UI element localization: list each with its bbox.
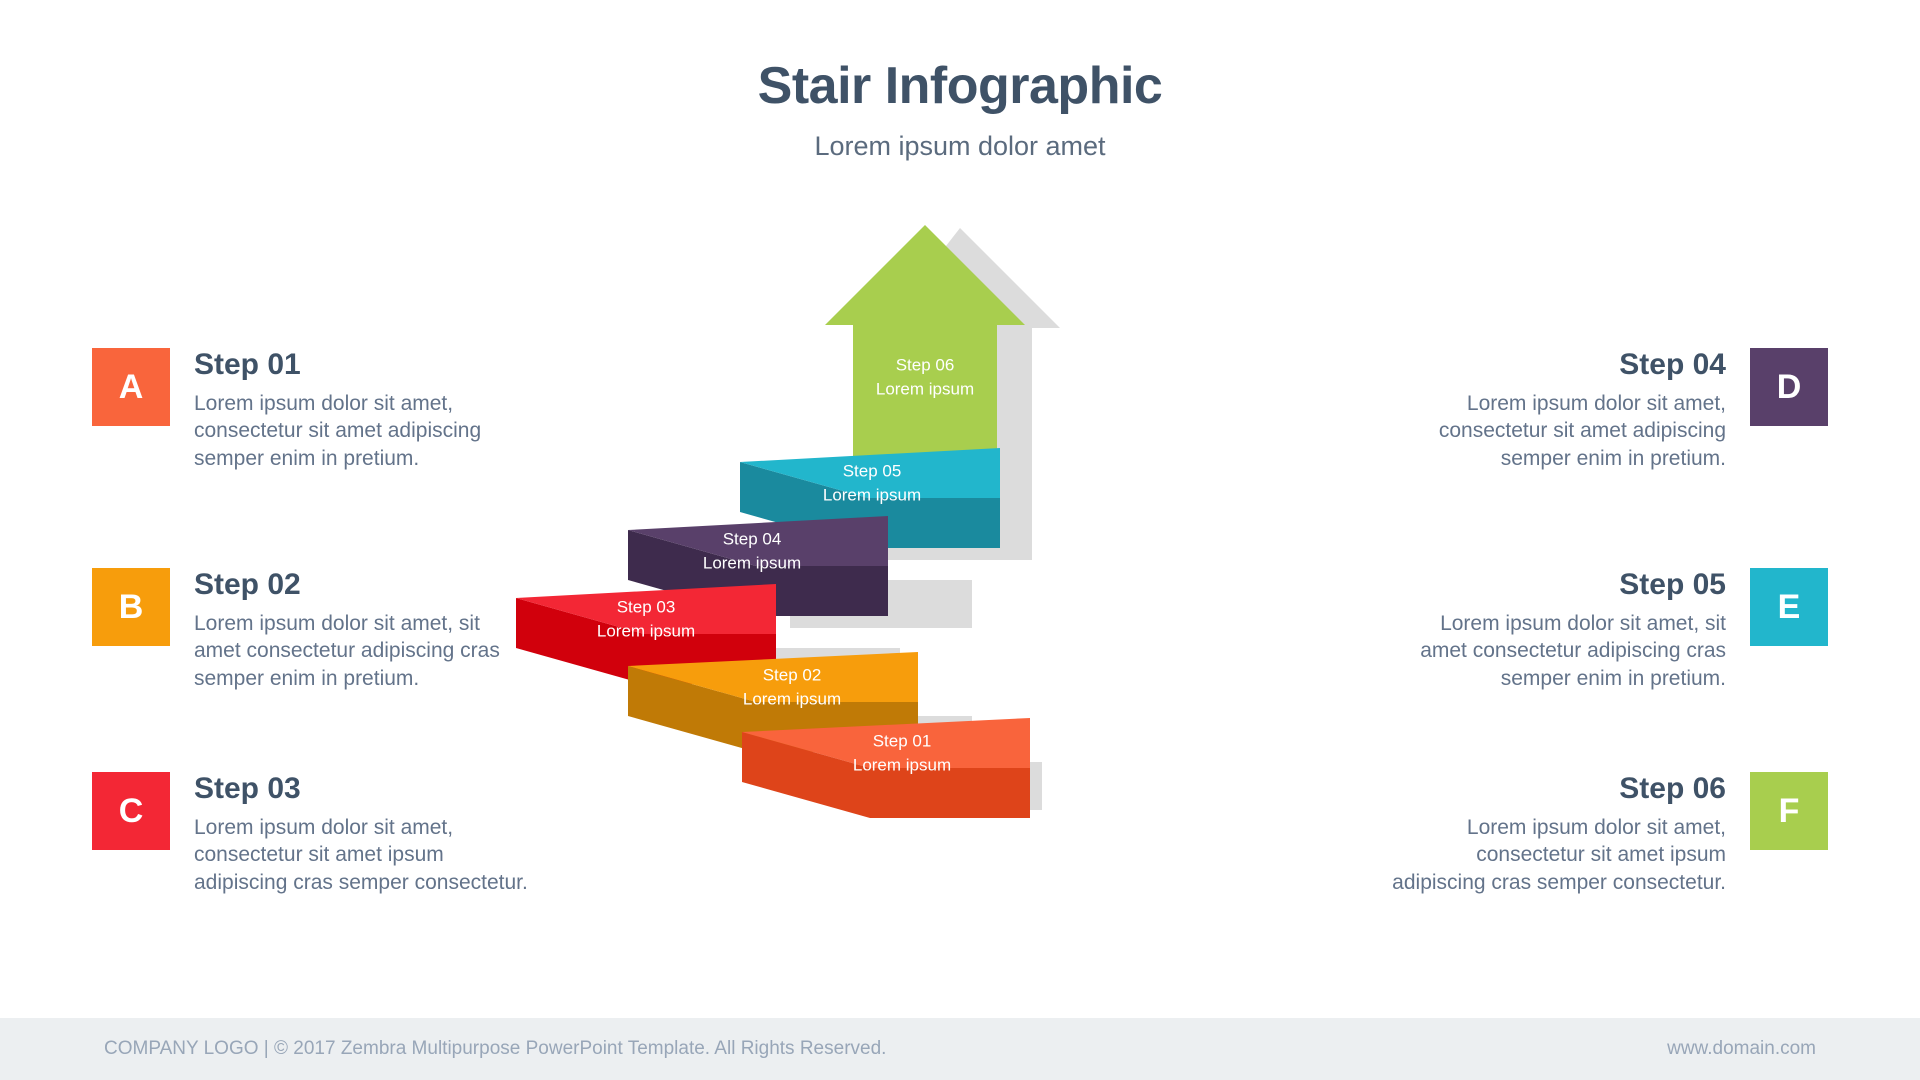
- step-desc-line: consectetur sit amet ipsum: [1326, 841, 1726, 869]
- step-06-label: Step 06: [896, 355, 955, 374]
- step-desc-line: Lorem ipsum dolor sit amet,: [194, 814, 594, 842]
- step-desc-06: Lorem ipsum dolor sit amet, consectetur …: [1326, 814, 1726, 898]
- step-desc-line: consectetur sit amet adipiscing: [1326, 417, 1726, 445]
- step-05-label: Step 05: [843, 461, 902, 480]
- step-02-sublabel: Lorem ipsum: [743, 689, 841, 708]
- step-block-05[interactable]: E Step 05 Lorem ipsum dolor sit amet, si…: [1326, 568, 1828, 693]
- step-title-05: Step 05: [1326, 568, 1726, 603]
- step-03-label: Step 03: [617, 597, 676, 616]
- step-desc-line: amet consectetur adipiscing cras: [1326, 637, 1726, 665]
- step-01-front: [870, 768, 1030, 818]
- step-05-sublabel: Lorem ipsum: [823, 485, 921, 504]
- step-block-04[interactable]: D Step 04 Lorem ipsum dolor sit amet, co…: [1326, 348, 1828, 473]
- stair-step-01[interactable]: Step 01 Lorem ipsum: [742, 718, 1030, 818]
- step-title-06: Step 06: [1326, 772, 1726, 807]
- badge-d[interactable]: D: [1750, 348, 1828, 426]
- step-title-03: Step 03: [194, 772, 594, 807]
- step-desc-04: Lorem ipsum dolor sit amet, consectetur …: [1326, 390, 1726, 474]
- step-block-06[interactable]: F Step 06 Lorem ipsum dolor sit amet, co…: [1326, 772, 1828, 897]
- step-desc-line: semper enim in pretium.: [194, 445, 594, 473]
- page-subtitle: Lorem ipsum dolor amet: [0, 131, 1920, 162]
- step-desc-line: consectetur sit amet adipiscing: [194, 417, 594, 445]
- footer-website[interactable]: www.domain.com: [1667, 1038, 1816, 1060]
- step-text-05: Step 05 Lorem ipsum dolor sit amet, sit …: [1326, 568, 1726, 693]
- step-desc-line: consectetur sit amet ipsum: [194, 841, 594, 869]
- step-text-06: Step 06 Lorem ipsum dolor sit amet, cons…: [1326, 772, 1726, 897]
- step-desc-line: Lorem ipsum dolor sit amet,: [194, 390, 594, 418]
- step-title-04: Step 04: [1326, 348, 1726, 383]
- step-04-label: Step 04: [723, 529, 782, 548]
- step-desc-03: Lorem ipsum dolor sit amet, consectetur …: [194, 814, 594, 898]
- slide: Stair Infographic Lorem ipsum dolor amet…: [0, 0, 1920, 1080]
- stair-diagram: Step 06 Lorem ipsum Step 05 Lorem ipsum …: [600, 250, 1320, 930]
- step-02-label: Step 02: [763, 665, 822, 684]
- page-title: Stair Infographic: [0, 58, 1920, 115]
- step-desc-05: Lorem ipsum dolor sit amet, sit amet con…: [1326, 610, 1726, 694]
- step-desc-line: Lorem ipsum dolor sit amet,: [1326, 390, 1726, 418]
- step-text-04: Step 04 Lorem ipsum dolor sit amet, cons…: [1326, 348, 1726, 473]
- step-desc-line: adipiscing cras semper consectetur.: [1326, 869, 1726, 897]
- badge-e[interactable]: E: [1750, 568, 1828, 646]
- step-title-01: Step 01: [194, 348, 594, 383]
- step-desc-line: Lorem ipsum dolor sit amet,: [1326, 814, 1726, 842]
- badge-b[interactable]: B: [92, 568, 170, 646]
- slide-footer: COMPANY LOGO | © 2017 Zembra Multipurpos…: [0, 1018, 1920, 1080]
- step-01-label: Step 01: [873, 731, 932, 750]
- step-03-sublabel: Lorem ipsum: [597, 621, 695, 640]
- step-desc-line: semper enim in pretium.: [194, 665, 594, 693]
- step-desc-line: semper enim in pretium.: [1326, 665, 1726, 693]
- badge-a[interactable]: A: [92, 348, 170, 426]
- step-text-01: Step 01 Lorem ipsum dolor sit amet, cons…: [194, 348, 594, 473]
- slide-header: Stair Infographic Lorem ipsum dolor amet: [0, 58, 1920, 162]
- step-desc-01: Lorem ipsum dolor sit amet, consectetur …: [194, 390, 594, 474]
- step-block-01[interactable]: A Step 01 Lorem ipsum dolor sit amet, co…: [92, 348, 594, 473]
- step-block-03[interactable]: C Step 03 Lorem ipsum dolor sit amet, co…: [92, 772, 594, 897]
- step-text-03: Step 03 Lorem ipsum dolor sit amet, cons…: [194, 772, 594, 897]
- step-01-sublabel: Lorem ipsum: [853, 755, 951, 774]
- footer-copyright: COMPANY LOGO | © 2017 Zembra Multipurpos…: [104, 1038, 886, 1060]
- badge-f[interactable]: F: [1750, 772, 1828, 850]
- step-04-sublabel: Lorem ipsum: [703, 553, 801, 572]
- stair-svg: Step 06 Lorem ipsum Step 05 Lorem ipsum …: [600, 250, 1320, 930]
- step-desc-line: semper enim in pretium.: [1326, 445, 1726, 473]
- step-desc-line: Lorem ipsum dolor sit amet, sit: [1326, 610, 1726, 638]
- step-06-sublabel: Lorem ipsum: [876, 379, 974, 398]
- badge-c[interactable]: C: [92, 772, 170, 850]
- step-desc-line: adipiscing cras semper consectetur.: [194, 869, 594, 897]
